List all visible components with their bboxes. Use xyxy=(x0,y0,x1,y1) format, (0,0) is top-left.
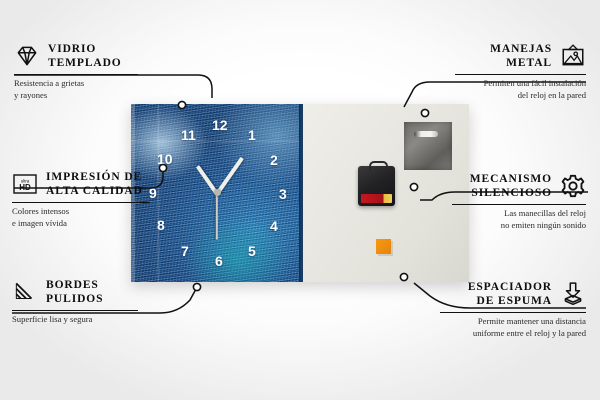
foam-spacer-pad xyxy=(376,239,391,254)
callout-bordes-pulidos[interactable]: BORDES PULIDOS Superficie lisa y segura xyxy=(12,278,138,326)
callout-title: BORDES PULIDOS xyxy=(46,278,103,307)
polished-edges-icon xyxy=(12,279,38,305)
clock-numeral-6: 6 xyxy=(215,254,223,268)
svg-text:HD: HD xyxy=(19,183,31,192)
clock-numeral-11: 11 xyxy=(181,128,196,142)
callout-mecanismo-silencioso[interactable]: MECANISMO SILENCIOSO Las manecillas del … xyxy=(452,172,586,231)
callout-subtitle: Resistencia a grietas y rayones xyxy=(14,78,138,101)
callout-title: ESPACIADOR DE ESPUMA xyxy=(440,280,552,309)
foam-spacer-icon xyxy=(560,281,586,307)
clock-numeral-12: 12 xyxy=(212,118,228,132)
callout-rule xyxy=(440,312,586,313)
clock-numeral-7: 7 xyxy=(181,244,189,258)
ultra-hd-icon: ultra HD xyxy=(12,171,38,197)
clock-numeral-8: 8 xyxy=(157,218,165,232)
clock-numeral-10: 10 xyxy=(157,152,173,166)
callout-subtitle: Permiten una fácil instalación del reloj… xyxy=(455,78,586,101)
infographic-canvas: 12 1 2 3 4 5 6 7 8 9 10 11 xyxy=(0,0,600,400)
product-image: 12 1 2 3 4 5 6 7 8 9 10 11 xyxy=(131,104,469,282)
diamond-icon xyxy=(14,43,40,69)
callout-rule xyxy=(12,202,150,203)
clock-numeral-9: 9 xyxy=(149,186,157,200)
callout-rule xyxy=(452,204,586,205)
clock-numeral-5: 5 xyxy=(248,244,256,258)
callout-manejas-metal[interactable]: MANEJAS METAL Permiten una fácil instala… xyxy=(455,42,586,101)
callout-subtitle: Superficie lisa y segura xyxy=(12,314,138,326)
callout-impresion-alta-calidad[interactable]: ultra HD IMPRESIÓN DE ALTA CALIDAD Color… xyxy=(12,170,150,229)
connector-dot-bordes xyxy=(193,283,200,290)
gear-icon xyxy=(560,173,586,199)
callout-rule xyxy=(14,74,138,75)
picture-hanger-icon xyxy=(560,43,586,69)
clock-center-pivot xyxy=(214,189,221,196)
clock-front-panel: 12 1 2 3 4 5 6 7 8 9 10 11 xyxy=(131,104,303,282)
clock-hour-hand xyxy=(196,165,219,195)
clock-numeral-4: 4 xyxy=(270,219,278,233)
clock-back-panel xyxy=(303,104,469,282)
clock-numeral-2: 2 xyxy=(270,153,278,167)
clock-minute-hand xyxy=(215,157,244,195)
callout-subtitle: Las manecillas del reloj no emiten ningú… xyxy=(452,208,586,231)
mechanism-loop xyxy=(369,161,388,171)
clock-second-hand xyxy=(216,194,218,240)
callout-vidrio-templado[interactable]: VIDRIO TEMPLADO Resistencia a grietas y … xyxy=(14,42,138,101)
callout-title: MECANISMO SILENCIOSO xyxy=(452,172,552,201)
callout-subtitle: Permite mantener una distancia uniforme … xyxy=(440,316,586,339)
clock-numeral-1: 1 xyxy=(248,128,256,142)
battery xyxy=(361,194,392,203)
callout-espaciador-espuma[interactable]: ESPACIADOR DE ESPUMA Permite mantener un… xyxy=(440,280,586,339)
callout-subtitle: Colores intensos e imagen vívida xyxy=(12,206,150,229)
callout-title: VIDRIO TEMPLADO xyxy=(48,42,122,71)
callout-title: MANEJAS METAL xyxy=(455,42,552,71)
callout-rule xyxy=(455,74,586,75)
clock-numeral-3: 3 xyxy=(279,187,287,201)
callout-title: IMPRESIÓN DE ALTA CALIDAD xyxy=(46,170,143,199)
quartz-mechanism xyxy=(358,166,395,206)
hanger-slot xyxy=(414,131,438,137)
callout-rule xyxy=(12,310,138,311)
metal-hanger-plate xyxy=(404,122,452,170)
